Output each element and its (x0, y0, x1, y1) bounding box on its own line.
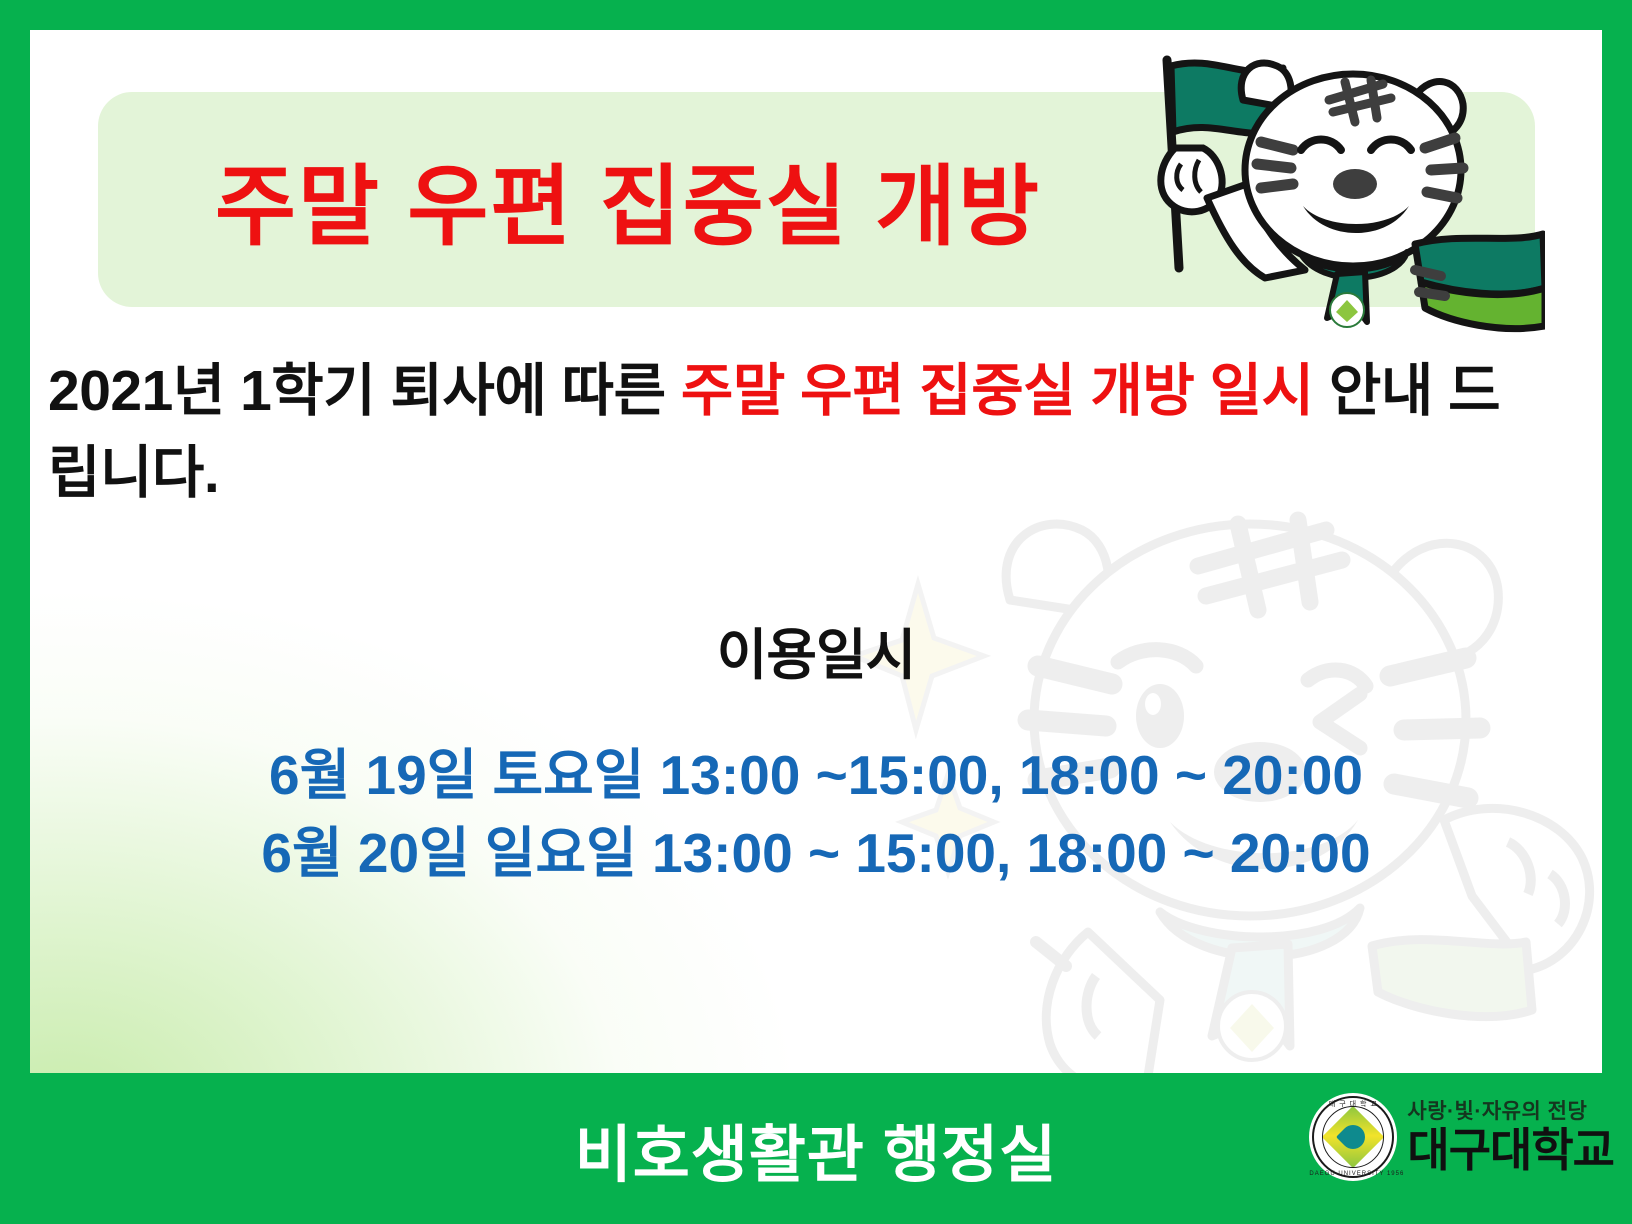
schedule-heading: 이용일시 (30, 610, 1602, 690)
university-tagline: 사랑·빛·자유의 전당 (1407, 1101, 1614, 1122)
poster: 주말 우편 집중실 개방 (0, 0, 1632, 1224)
announcement-body: 2021년 1학기 퇴사에 따른 주말 우편 집중실 개방 일시 안내 드립니다… (48, 350, 1548, 514)
body-part-1: 2021년 1학기 퇴사에 따른 (48, 359, 681, 423)
university-wordmark: 사랑·빛·자유의 전당 대구대학교 (1407, 1101, 1614, 1173)
title-band: 주말 우편 집중실 개방 (98, 92, 1535, 307)
schedule-line-sunday: 6월 20일 일요일 13:00 ~ 15:00, 18:00 ~ 20:00 (30, 814, 1602, 892)
poster-canvas: 주말 우편 집중실 개방 (30, 30, 1602, 1073)
footer-bar: 비호생활관 행정실 대 구 대 학 교 DAEGU UNIVERSITY 195… (0, 1073, 1632, 1224)
daegu-university-seal-icon: 대 구 대 학 교 DAEGU UNIVERSITY 1956 (1309, 1093, 1397, 1181)
university-lockup: 대 구 대 학 교 DAEGU UNIVERSITY 1956 사랑·빛·자유의… (1309, 1093, 1614, 1181)
seal-bottom-text: DAEGU UNIVERSITY 1956 (1309, 1171, 1397, 1177)
page-title: 주말 우편 집중실 개방 (98, 92, 1158, 307)
schedule-block: 이용일시 6월 19일 토요일 13:00 ~15:00, 18:00 ~ 20… (30, 610, 1602, 892)
university-name: 대구대학교 (1407, 1127, 1614, 1173)
body-highlight: 주말 우편 집중실 개방 일시 (681, 359, 1314, 423)
schedule-line-saturday: 6월 19일 토요일 13:00 ~15:00, 18:00 ~ 20:00 (30, 736, 1602, 814)
